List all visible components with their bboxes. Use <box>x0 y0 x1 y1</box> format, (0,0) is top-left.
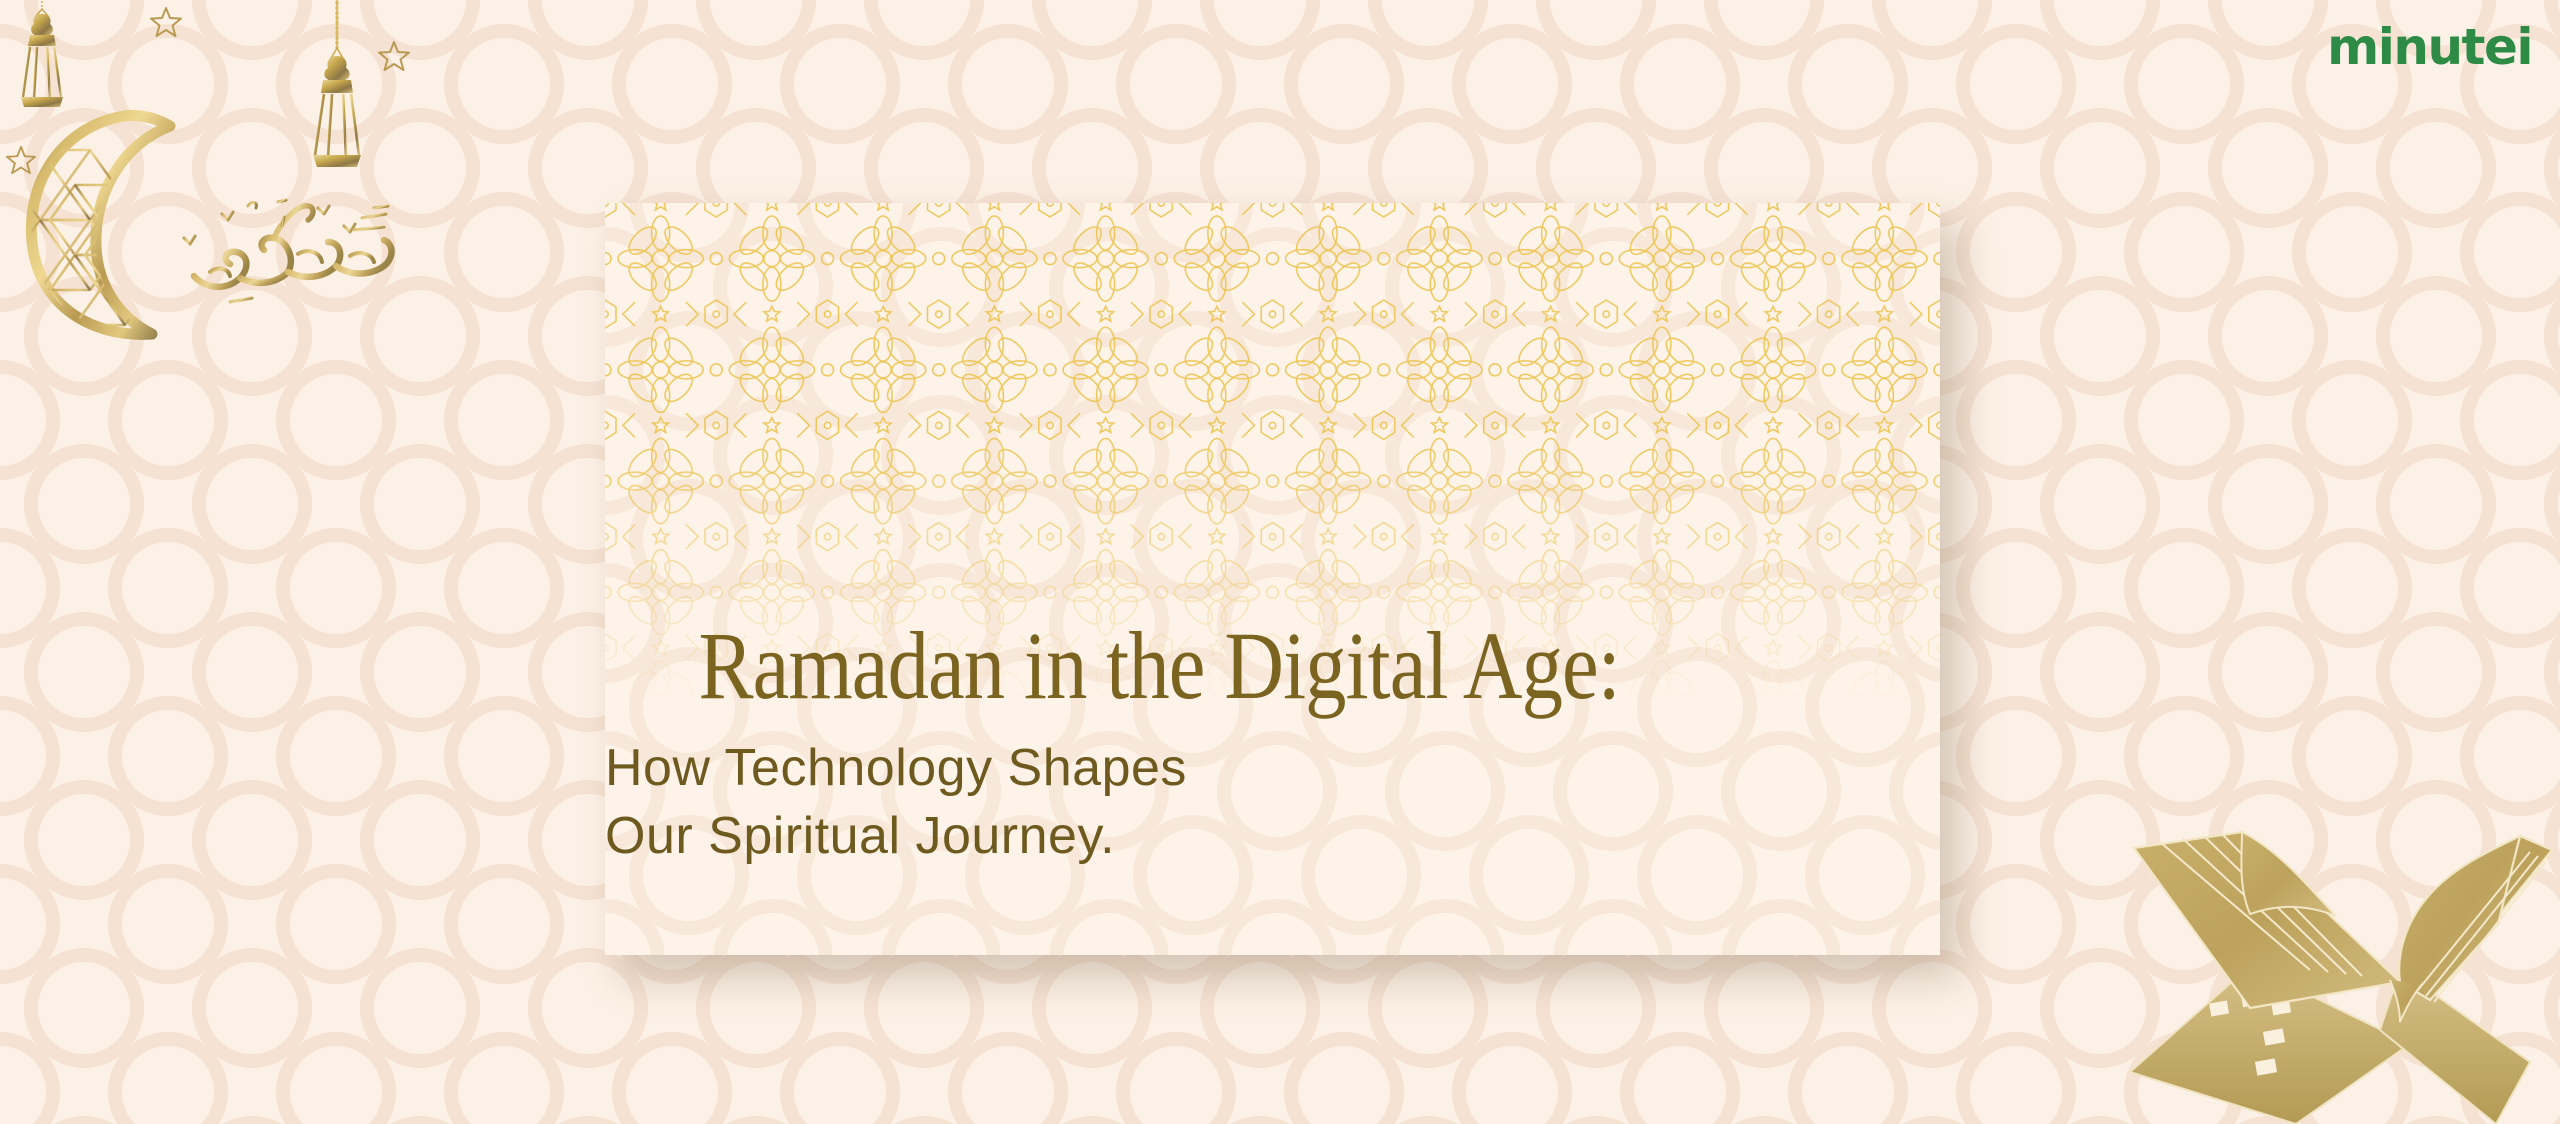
title-card: Ramadan in the Digital Age: How Technolo… <box>605 203 1940 955</box>
card-subtitle-line-2: Our Spiritual Journey. <box>605 803 1940 871</box>
brand-logo[interactable]: minutei <box>2327 18 2532 76</box>
card-subtitle: How Technology Shapes Our Spiritual Jour… <box>605 735 1940 870</box>
hanging-lantern-icon <box>6 0 78 119</box>
slide-canvas: minutei <box>0 0 2560 1124</box>
star-icon <box>6 145 36 175</box>
star-icon <box>378 40 410 72</box>
card-title: Ramadan in the Digital Age: <box>698 618 1846 714</box>
crescent-moon-icon <box>20 110 230 340</box>
hanging-lantern-icon <box>300 0 372 177</box>
quran-on-rehal-icon <box>2100 794 2560 1124</box>
card-subtitle-line-1: How Technology Shapes <box>605 735 1940 803</box>
arabic-calligraphy-ramadan-kareem <box>178 180 408 320</box>
star-icon <box>150 6 182 38</box>
